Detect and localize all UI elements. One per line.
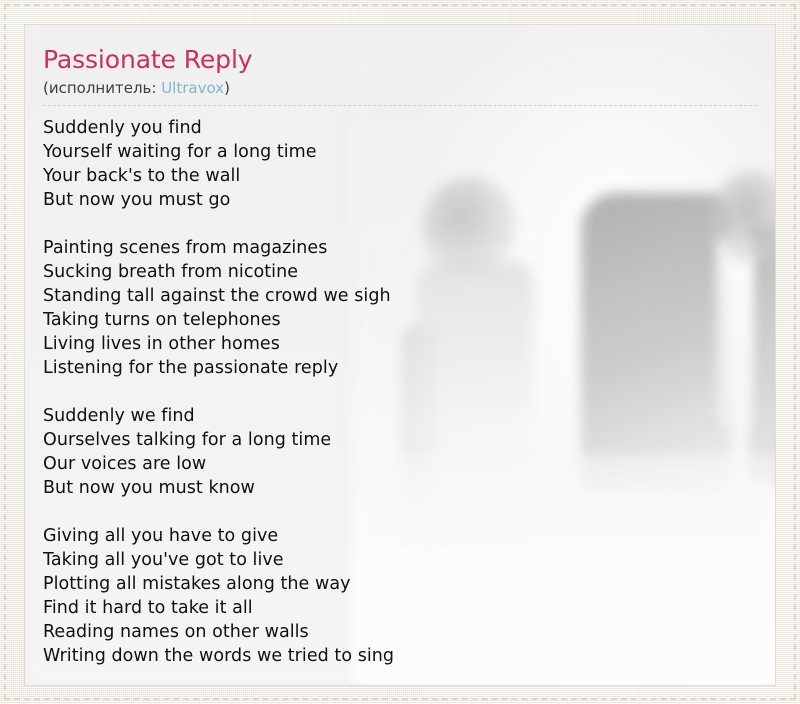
lyric-line: Plotting all mistakes along the way xyxy=(43,572,757,596)
lyric-line: Suddenly we find xyxy=(43,404,757,428)
lyric-line: Taking all you've got to live xyxy=(43,548,757,572)
artist-link[interactable]: Ultravox xyxy=(161,79,224,97)
song-title: Passionate Reply xyxy=(43,45,757,75)
artist-prefix-label: (исполнитель: xyxy=(43,79,161,97)
lyric-line: Your back's to the wall xyxy=(43,164,757,188)
lyric-line: Taking turns on telephones xyxy=(43,308,757,332)
page-frame: Passionate Reply (исполнитель: Ultravox)… xyxy=(0,0,800,704)
artist-line: (исполнитель: Ultravox) xyxy=(43,78,757,105)
title-divider xyxy=(43,105,757,106)
lyric-line: But now you must go xyxy=(43,188,757,212)
lyric-line: Listening for the passionate reply xyxy=(43,356,757,380)
lyric-line: But now you must know xyxy=(43,476,757,500)
lyric-line: Giving all you have to give xyxy=(43,524,757,548)
lyric-line: Reading names on other walls xyxy=(43,620,757,644)
artist-suffix-label: ) xyxy=(224,79,230,97)
lyrics-verse: Suddenly we findOurselves talking for a … xyxy=(43,404,757,500)
lyric-line: Painting scenes from magazines xyxy=(43,236,757,260)
lyric-line: Living lives in other homes xyxy=(43,332,757,356)
lyrics-verse: Giving all you have to giveTaking all yo… xyxy=(43,524,757,668)
lyrics-verse: Painting scenes from magazinesSucking br… xyxy=(43,236,757,380)
lyric-line: Our voices are low xyxy=(43,452,757,476)
lyric-line: Standing tall against the crowd we sigh xyxy=(43,284,757,308)
lyric-line: Ourselves talking for a long time xyxy=(43,428,757,452)
lyric-line: Writing down the words we tried to sing xyxy=(43,644,757,668)
lyric-line: Yourself waiting for a long time xyxy=(43,140,757,164)
lyric-line: Suddenly you find xyxy=(43,116,757,140)
lyric-line: Find it hard to take it all xyxy=(43,596,757,620)
lyrics-body: Suddenly you findYourself waiting for a … xyxy=(43,116,757,668)
card-content: Passionate Reply (исполнитель: Ultravox)… xyxy=(25,25,775,668)
lyric-line: Sucking breath from nicotine xyxy=(43,260,757,284)
lyrics-verse: Suddenly you findYourself waiting for a … xyxy=(43,116,757,212)
lyrics-card: Passionate Reply (исполнитель: Ultravox)… xyxy=(24,24,776,686)
